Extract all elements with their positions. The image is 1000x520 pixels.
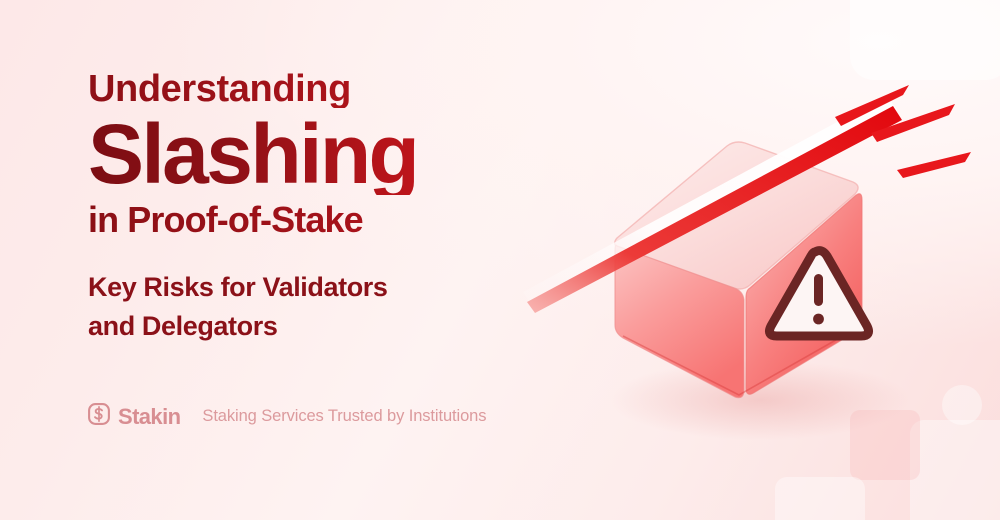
brand-tagline: Staking Services Trusted by Institutions <box>202 407 486 426</box>
kicker-block: Key Risks for Validators and Delegators <box>88 268 448 345</box>
banner-canvas: Understanding Slashing in Proof-of-Stake… <box>0 0 1000 520</box>
headline-block: Understanding Slashing in Proof-of-Stake… <box>88 70 558 345</box>
kicker-line-1: Key Risks for Validators <box>88 272 388 302</box>
slashed-cube-illustration <box>505 70 1000 470</box>
kicker-line-2: and Delegators <box>88 311 277 341</box>
accent-stroke-3 <box>897 152 971 178</box>
stakin-s-logo-icon <box>88 403 110 430</box>
brand-name: Stakin <box>118 404 180 430</box>
brand-row: Stakin Staking Services Trusted by Insti… <box>88 403 486 430</box>
subtitle-text: in Proof-of-Stake <box>88 201 558 239</box>
stakin-logo-lockup[interactable]: Stakin <box>88 403 180 430</box>
eyebrow-text: Understanding <box>88 70 558 108</box>
page-title: Slashing <box>88 114 558 195</box>
